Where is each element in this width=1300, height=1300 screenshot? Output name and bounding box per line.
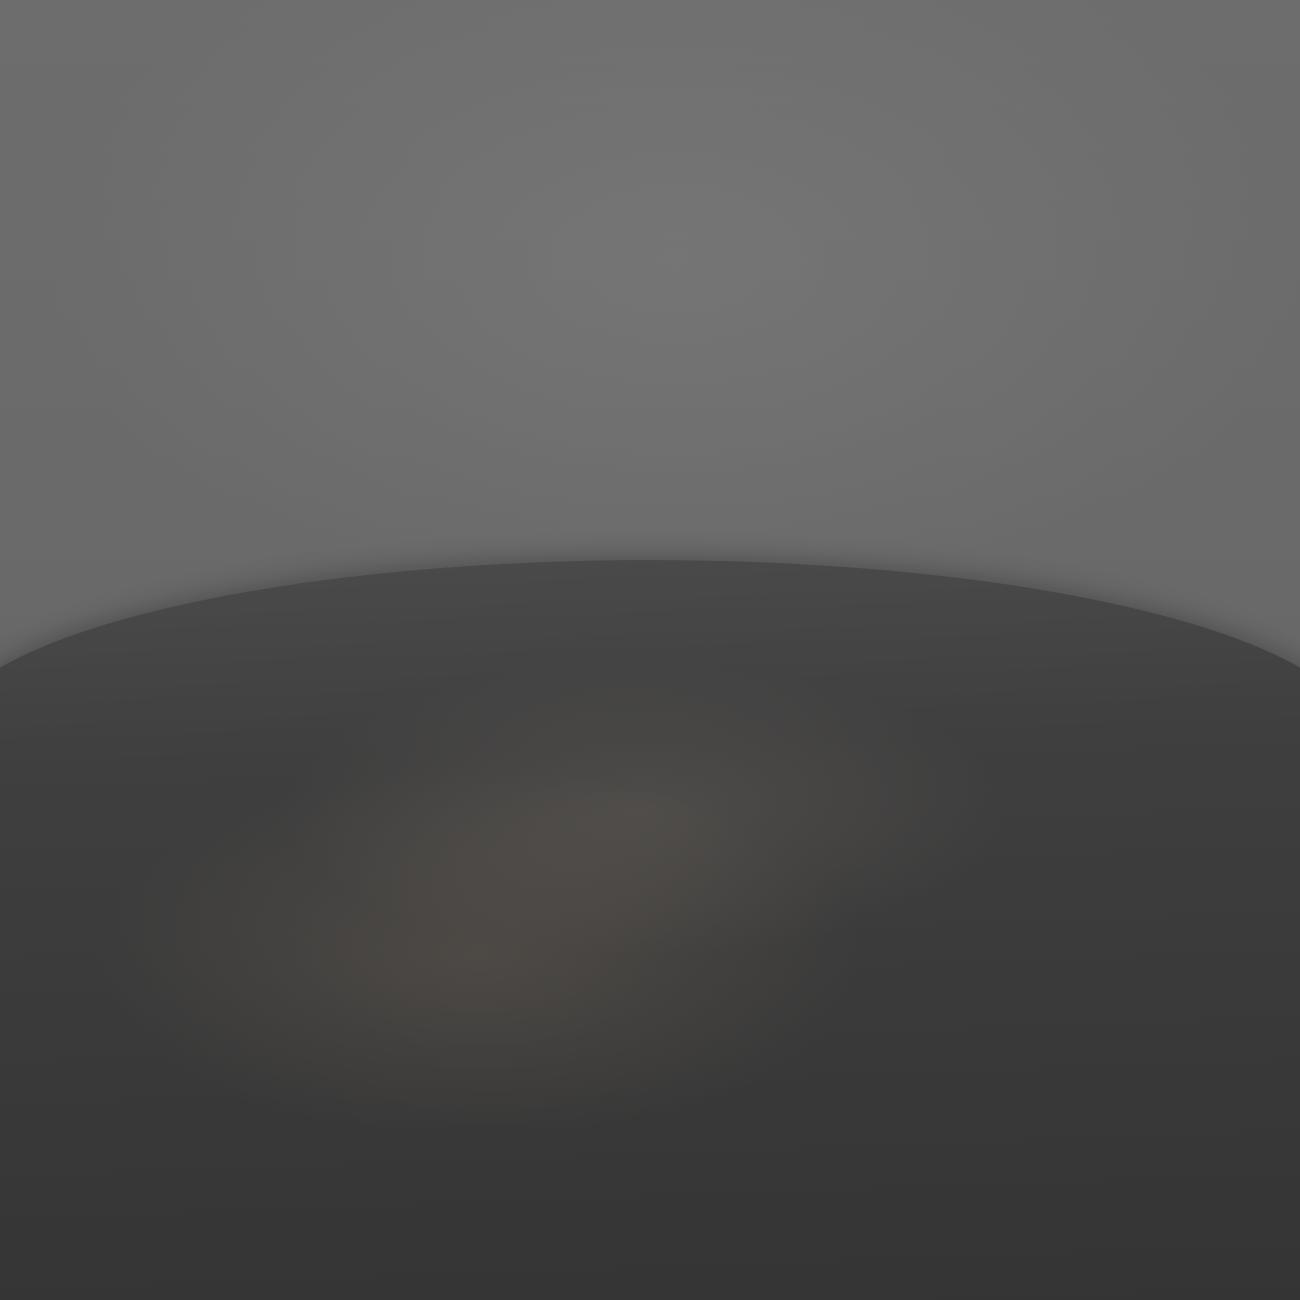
table-front-edge (0, 1150, 1300, 1300)
product-parameters-image: Product parameters Product parameters No… (0, 0, 1300, 1300)
